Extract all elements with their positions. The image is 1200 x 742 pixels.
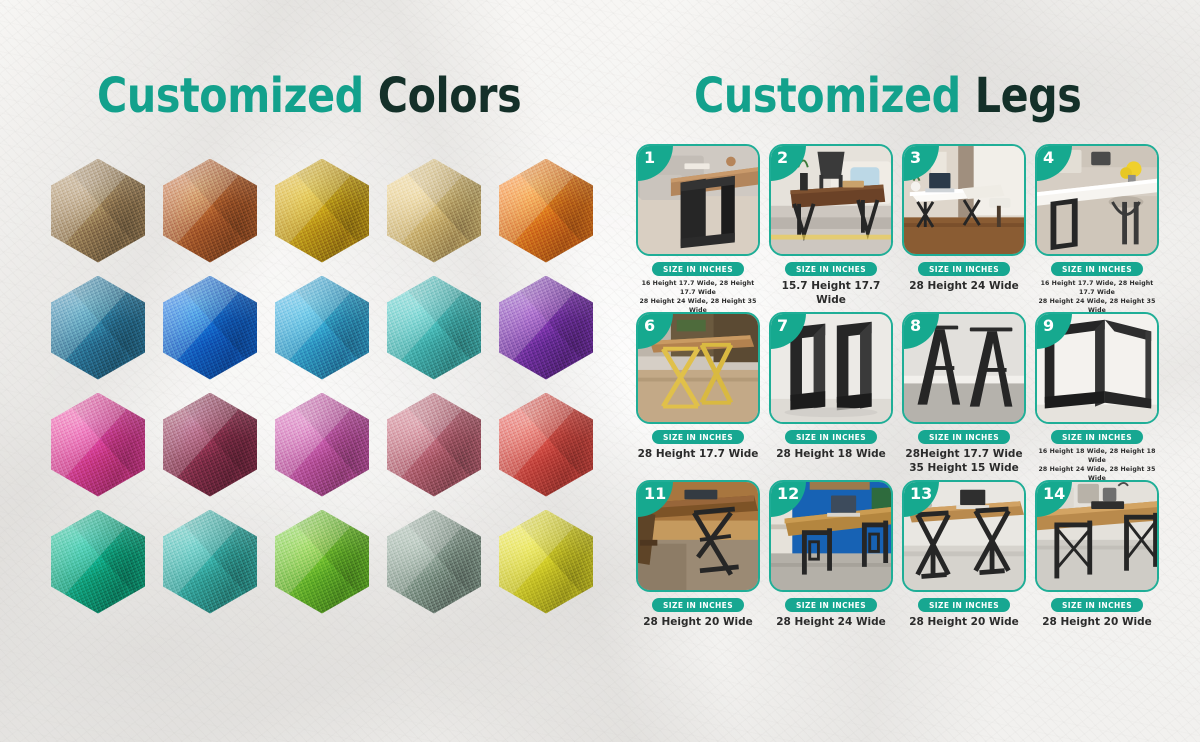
swatch-grain xyxy=(387,276,481,380)
color-swatch-yellow[interactable] xyxy=(499,510,593,614)
swatch-grain xyxy=(499,276,593,380)
leg-option-sizes: 28 Height 20 Wide xyxy=(636,615,760,629)
color-swatch-cell[interactable] xyxy=(154,503,266,620)
leg-option-photo[interactable]: 3 xyxy=(902,144,1026,256)
color-swatch-cell[interactable] xyxy=(378,269,490,386)
color-swatch-cell[interactable] xyxy=(42,269,154,386)
color-swatch-emerald-green[interactable] xyxy=(51,510,145,614)
color-swatch-cell[interactable] xyxy=(266,269,378,386)
leg-option-card[interactable]: 3SIZE IN INCHES28 Height 24 Wide xyxy=(902,144,1026,304)
leg-option-sizes: 15.7 Height 17.7 Wide xyxy=(769,279,893,307)
legs-card-row: 1SIZE IN INCHES16 Height 17.7 Wide, 28 H… xyxy=(636,144,1166,304)
size-in-inches-pill: SIZE IN INCHES xyxy=(1051,262,1143,276)
color-swatch-purple[interactable] xyxy=(499,276,593,380)
swatch-grain xyxy=(275,159,369,263)
leg-option-sizes: 16 Height 17.7 Wide, 28 Height 17.7 Wide… xyxy=(1035,279,1159,315)
swatch-grain xyxy=(499,159,593,263)
color-swatch-bronze-tan[interactable] xyxy=(51,159,145,263)
color-swatch-lime-green[interactable] xyxy=(275,510,369,614)
leg-option-sizes: 28 Height 20 Wide xyxy=(902,615,1026,629)
color-swatch-cell[interactable] xyxy=(42,386,154,503)
swatch-grain xyxy=(275,276,369,380)
color-swatch-cell[interactable] xyxy=(154,386,266,503)
leg-option-card[interactable]: 4SIZE IN INCHES16 Height 17.7 Wide, 28 H… xyxy=(1035,144,1159,304)
color-swatch-orchid-pink[interactable] xyxy=(275,393,369,497)
swatch-grain xyxy=(163,276,257,380)
color-swatch-cell[interactable] xyxy=(490,386,602,503)
color-swatch-cell[interactable] xyxy=(378,503,490,620)
color-swatch-hot-pink[interactable] xyxy=(51,393,145,497)
leg-option-sizes: 28 Height 17.7 Wide xyxy=(636,447,760,461)
swatch-grain xyxy=(387,510,481,614)
swatch-grain xyxy=(387,159,481,263)
color-swatch-sky-blue[interactable] xyxy=(275,276,369,380)
color-swatch-cell[interactable] xyxy=(266,386,378,503)
color-swatch-cell[interactable] xyxy=(378,386,490,503)
color-swatch-sage-gray-green[interactable] xyxy=(387,510,481,614)
size-in-inches-pill: SIZE IN INCHES xyxy=(652,598,744,612)
leg-option-card[interactable]: 8SIZE IN INCHES28Height 17.7 Wide35 Heig… xyxy=(902,312,1026,472)
leg-option-card[interactable]: 2SIZE IN INCHES15.7 Height 17.7 Wide xyxy=(769,144,893,304)
size-in-inches-pill: SIZE IN INCHES xyxy=(652,262,744,276)
leg-option-card[interactable]: 1SIZE IN INCHES16 Height 17.7 Wide, 28 H… xyxy=(636,144,760,304)
leg-option-photo[interactable]: 14 xyxy=(1035,480,1159,592)
color-swatch-cell[interactable] xyxy=(42,152,154,269)
color-swatch-cell[interactable] xyxy=(154,152,266,269)
color-swatch-burgundy[interactable] xyxy=(163,393,257,497)
color-swatch-cell[interactable] xyxy=(490,152,602,269)
page-title-colors: Customized Colors xyxy=(97,68,521,124)
leg-option-photo[interactable]: 12 xyxy=(769,480,893,592)
swatch-grain xyxy=(51,159,145,263)
leg-option-photo[interactable]: 13 xyxy=(902,480,1026,592)
swatch-grain xyxy=(163,510,257,614)
leg-option-card[interactable]: 7SIZE IN INCHES28 Height 18 Wide xyxy=(769,312,893,472)
legs-card-row: 11SIZE IN INCHES28 Height 20 Wide12SIZE … xyxy=(636,480,1166,640)
color-swatch-turquoise[interactable] xyxy=(387,276,481,380)
color-swatch-cell[interactable] xyxy=(154,269,266,386)
leg-option-photo[interactable]: 2 xyxy=(769,144,893,256)
leg-option-card[interactable]: 11SIZE IN INCHES28 Height 20 Wide xyxy=(636,480,760,640)
leg-option-card[interactable]: 14SIZE IN INCHES28 Height 20 Wide xyxy=(1035,480,1159,640)
leg-option-sizes: 28 Height 20 Wide xyxy=(1035,615,1159,629)
size-in-inches-pill: SIZE IN INCHES xyxy=(785,598,877,612)
size-in-inches-pill: SIZE IN INCHES xyxy=(918,598,1010,612)
leg-size-line: 15.7 Height 17.7 Wide xyxy=(769,279,893,307)
leg-option-photo[interactable]: 6 xyxy=(636,312,760,424)
size-in-inches-pill: SIZE IN INCHES xyxy=(785,430,877,444)
swatch-grain xyxy=(275,393,369,497)
color-swatch-row xyxy=(42,386,602,503)
leg-option-sizes: 28 Height 24 Wide xyxy=(769,615,893,629)
leg-option-photo[interactable]: 8 xyxy=(902,312,1026,424)
color-swatch-teal-green[interactable] xyxy=(163,510,257,614)
page-title-legs-word2: Legs xyxy=(975,68,1082,124)
leg-size-line: 16 Height 18 Wide, 28 Height 18 Wide xyxy=(1035,447,1159,465)
swatch-grain xyxy=(51,276,145,380)
color-swatch-grid xyxy=(42,152,602,622)
color-swatch-row xyxy=(42,152,602,269)
leg-size-line: 28 Height 18 Wide xyxy=(769,447,893,461)
color-swatch-gold[interactable] xyxy=(275,159,369,263)
color-swatch-copper-rust[interactable] xyxy=(163,159,257,263)
color-swatch-cell[interactable] xyxy=(266,503,378,620)
color-swatch-pale-gold[interactable] xyxy=(387,159,481,263)
leg-size-line: 16 Height 17.7 Wide, 28 Height 17.7 Wide xyxy=(636,279,760,297)
leg-size-line: 28 Height 20 Wide xyxy=(1035,615,1159,629)
swatch-grain xyxy=(275,510,369,614)
leg-size-line: 28 Height 24 Wide xyxy=(769,615,893,629)
leg-option-sizes: 16 Height 17.7 Wide, 28 Height 17.7 Wide… xyxy=(636,279,760,315)
size-in-inches-pill: SIZE IN INCHES xyxy=(1051,598,1143,612)
leg-size-line: 28 Height 20 Wide xyxy=(636,615,760,629)
swatch-grain xyxy=(51,510,145,614)
color-swatch-coral-red[interactable] xyxy=(499,393,593,497)
swatch-grain xyxy=(163,159,257,263)
leg-option-photo[interactable]: 11 xyxy=(636,480,760,592)
leg-option-photo[interactable]: 1 xyxy=(636,144,760,256)
size-in-inches-pill: SIZE IN INCHES xyxy=(1051,430,1143,444)
poster-page: Customized Colors Customized Legs 1SIZE … xyxy=(0,0,1200,742)
color-swatch-dusty-rose[interactable] xyxy=(387,393,481,497)
leg-option-card[interactable]: 6SIZE IN INCHES28 Height 17.7 Wide xyxy=(636,312,760,472)
size-in-inches-pill: SIZE IN INCHES xyxy=(918,262,1010,276)
color-swatch-steel-blue[interactable] xyxy=(51,276,145,380)
leg-size-line: 28 Height 17.7 Wide xyxy=(636,447,760,461)
swatch-grain xyxy=(387,393,481,497)
leg-size-line: 28 Height 20 Wide xyxy=(902,615,1026,629)
swatch-grain xyxy=(51,393,145,497)
leg-option-card[interactable]: 12SIZE IN INCHES28 Height 24 Wide xyxy=(769,480,893,640)
size-in-inches-pill: SIZE IN INCHES xyxy=(785,262,877,276)
page-title-legs: Customized Legs xyxy=(694,68,1081,124)
legs-card-grid: 1SIZE IN INCHES16 Height 17.7 Wide, 28 H… xyxy=(636,144,1166,644)
legs-card-row: 6SIZE IN INCHES28 Height 17.7 Wide7SIZE … xyxy=(636,312,1166,472)
swatch-grain xyxy=(499,510,593,614)
swatch-grain xyxy=(499,393,593,497)
color-swatch-cell[interactable] xyxy=(266,152,378,269)
color-swatch-cell[interactable] xyxy=(42,503,154,620)
color-swatch-cell[interactable] xyxy=(490,503,602,620)
color-swatch-royal-blue[interactable] xyxy=(163,276,257,380)
color-swatch-orange[interactable] xyxy=(499,159,593,263)
color-swatch-cell[interactable] xyxy=(378,152,490,269)
leg-option-sizes: 16 Height 18 Wide, 28 Height 18 Wide28 H… xyxy=(1035,447,1159,483)
size-in-inches-pill: SIZE IN INCHES xyxy=(918,430,1010,444)
leg-option-photo[interactable]: 9 xyxy=(1035,312,1159,424)
page-title-legs-word1: Customized xyxy=(694,68,961,124)
size-in-inches-pill: SIZE IN INCHES xyxy=(652,430,744,444)
leg-option-sizes: 28Height 17.7 Wide35 Height 15 Wide xyxy=(902,447,1026,475)
leg-option-sizes: 28 Height 18 Wide xyxy=(769,447,893,461)
swatch-grain xyxy=(163,393,257,497)
page-title-colors-word2: Colors xyxy=(378,68,522,124)
color-swatch-cell[interactable] xyxy=(490,269,602,386)
leg-size-line: 28Height 17.7 Wide xyxy=(902,447,1026,461)
page-title-colors-word1: Customized xyxy=(97,68,364,124)
color-swatch-row xyxy=(42,503,602,620)
leg-option-card[interactable]: 13SIZE IN INCHES28 Height 20 Wide xyxy=(902,480,1026,640)
leg-size-line: 16 Height 17.7 Wide, 28 Height 17.7 Wide xyxy=(1035,279,1159,297)
leg-option-photo[interactable]: 7 xyxy=(769,312,893,424)
leg-option-photo[interactable]: 4 xyxy=(1035,144,1159,256)
leg-option-sizes: 28 Height 24 Wide xyxy=(902,279,1026,293)
leg-option-card[interactable]: 9SIZE IN INCHES16 Height 18 Wide, 28 Hei… xyxy=(1035,312,1159,472)
leg-size-line: 28 Height 24 Wide xyxy=(902,279,1026,293)
color-swatch-row xyxy=(42,269,602,386)
leg-size-line: 35 Height 15 Wide xyxy=(902,461,1026,475)
